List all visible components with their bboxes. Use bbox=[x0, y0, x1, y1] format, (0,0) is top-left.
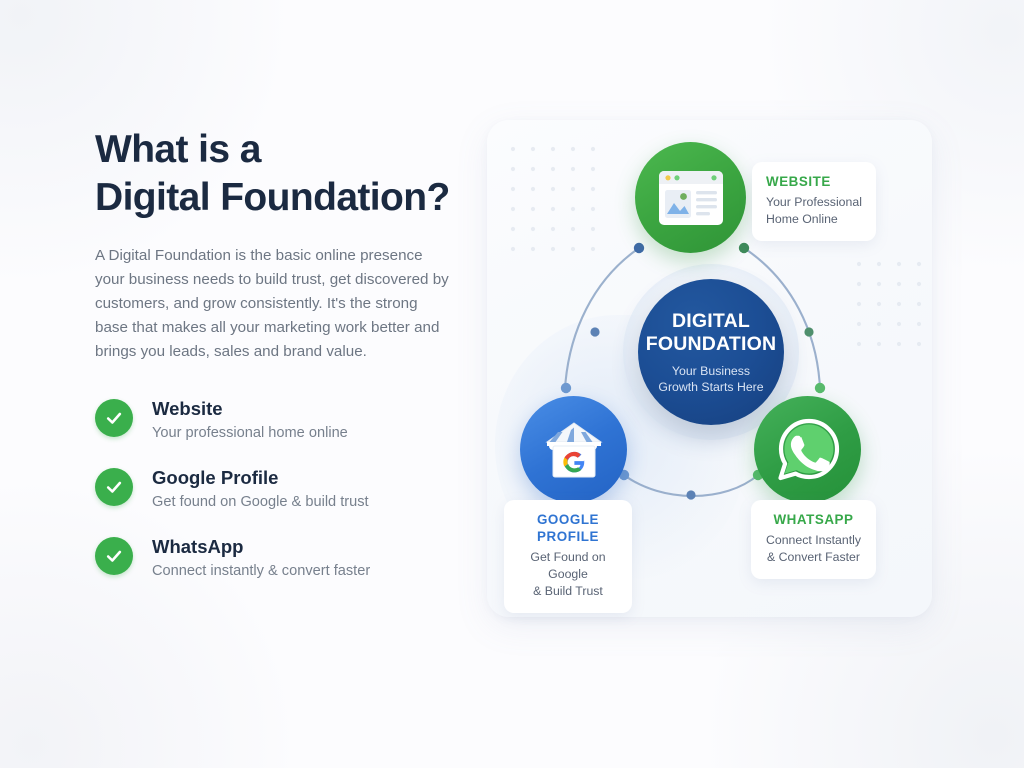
center-title-line-1: DIGITAL bbox=[672, 310, 750, 332]
center-subtitle: Your Business Growth Starts Here bbox=[658, 363, 763, 395]
feature-list: Website Your professional home online Go… bbox=[95, 396, 467, 582]
node-website[interactable] bbox=[635, 142, 746, 253]
feature-subtitle: Connect instantly & convert faster bbox=[152, 561, 370, 582]
label-subtitle-whatsapp-line-2: & Convert Faster bbox=[767, 550, 860, 564]
check-icon bbox=[95, 468, 133, 506]
label-subtitle-google-profile: Get Found on Google & Build Trust bbox=[518, 549, 618, 600]
label-subtitle-website-line-2: Home Online bbox=[766, 212, 838, 226]
center-title: DIGITAL FOUNDATION bbox=[646, 310, 777, 356]
list-item: Google Profile Get found on Google & bui… bbox=[95, 465, 467, 513]
browser-window-icon bbox=[658, 170, 724, 226]
google-business-storefront-icon bbox=[541, 419, 607, 481]
label-subtitle-whatsapp: Connect Instantly & Convert Faster bbox=[765, 532, 862, 566]
list-item: Website Your professional home online bbox=[95, 396, 467, 444]
diagram-panel: DIGITAL FOUNDATION Your Business Growth … bbox=[487, 120, 932, 617]
headline-line-1: What is a bbox=[95, 128, 261, 171]
center-subtitle-line-2: Growth Starts Here bbox=[658, 380, 763, 394]
label-card-google-profile: GOOGLE PROFILE Get Found on Google & Bui… bbox=[504, 500, 632, 613]
infographic-stage: What is a Digital Foundation? A Digital … bbox=[0, 0, 1024, 768]
left-content-column: What is a Digital Foundation? A Digital … bbox=[95, 126, 467, 603]
label-subtitle-website-line-1: Your Professional bbox=[766, 195, 862, 209]
center-title-line-2: FOUNDATION bbox=[646, 333, 777, 355]
center-node-digital-foundation: DIGITAL FOUNDATION Your Business Growth … bbox=[638, 279, 784, 425]
label-title-google-profile: GOOGLE PROFILE bbox=[518, 511, 618, 545]
label-title-whatsapp: WHATSAPP bbox=[765, 511, 862, 528]
label-subtitle-whatsapp-line-1: Connect Instantly bbox=[766, 533, 861, 547]
center-subtitle-line-1: Your Business bbox=[672, 364, 750, 378]
list-item: WhatsApp Connect instantly & convert fas… bbox=[95, 534, 467, 582]
check-icon bbox=[95, 399, 133, 437]
feature-subtitle: Your professional home online bbox=[152, 423, 348, 444]
page-title: What is a Digital Foundation? bbox=[95, 126, 467, 222]
label-subtitle-google-line-1: Get Found on Google bbox=[530, 550, 605, 581]
feature-subtitle: Get found on Google & build trust bbox=[152, 492, 369, 513]
feature-title: Website bbox=[152, 398, 223, 419]
label-title-website: WEBSITE bbox=[766, 173, 862, 190]
whatsapp-icon bbox=[772, 414, 844, 486]
node-google-profile[interactable] bbox=[520, 396, 627, 503]
label-subtitle-website: Your Professional Home Online bbox=[766, 194, 862, 228]
headline-line-2: Digital Foundation? bbox=[95, 176, 450, 219]
label-subtitle-google-line-2: & Build Trust bbox=[533, 584, 603, 598]
label-card-whatsapp: WHATSAPP Connect Instantly & Convert Fas… bbox=[751, 500, 876, 579]
feature-title: Google Profile bbox=[152, 467, 278, 488]
feature-title: WhatsApp bbox=[152, 536, 243, 557]
label-card-website: WEBSITE Your Professional Home Online bbox=[752, 162, 876, 241]
node-whatsapp[interactable] bbox=[754, 396, 861, 503]
check-icon bbox=[95, 537, 133, 575]
intro-paragraph: A Digital Foundation is the basic online… bbox=[95, 244, 451, 364]
